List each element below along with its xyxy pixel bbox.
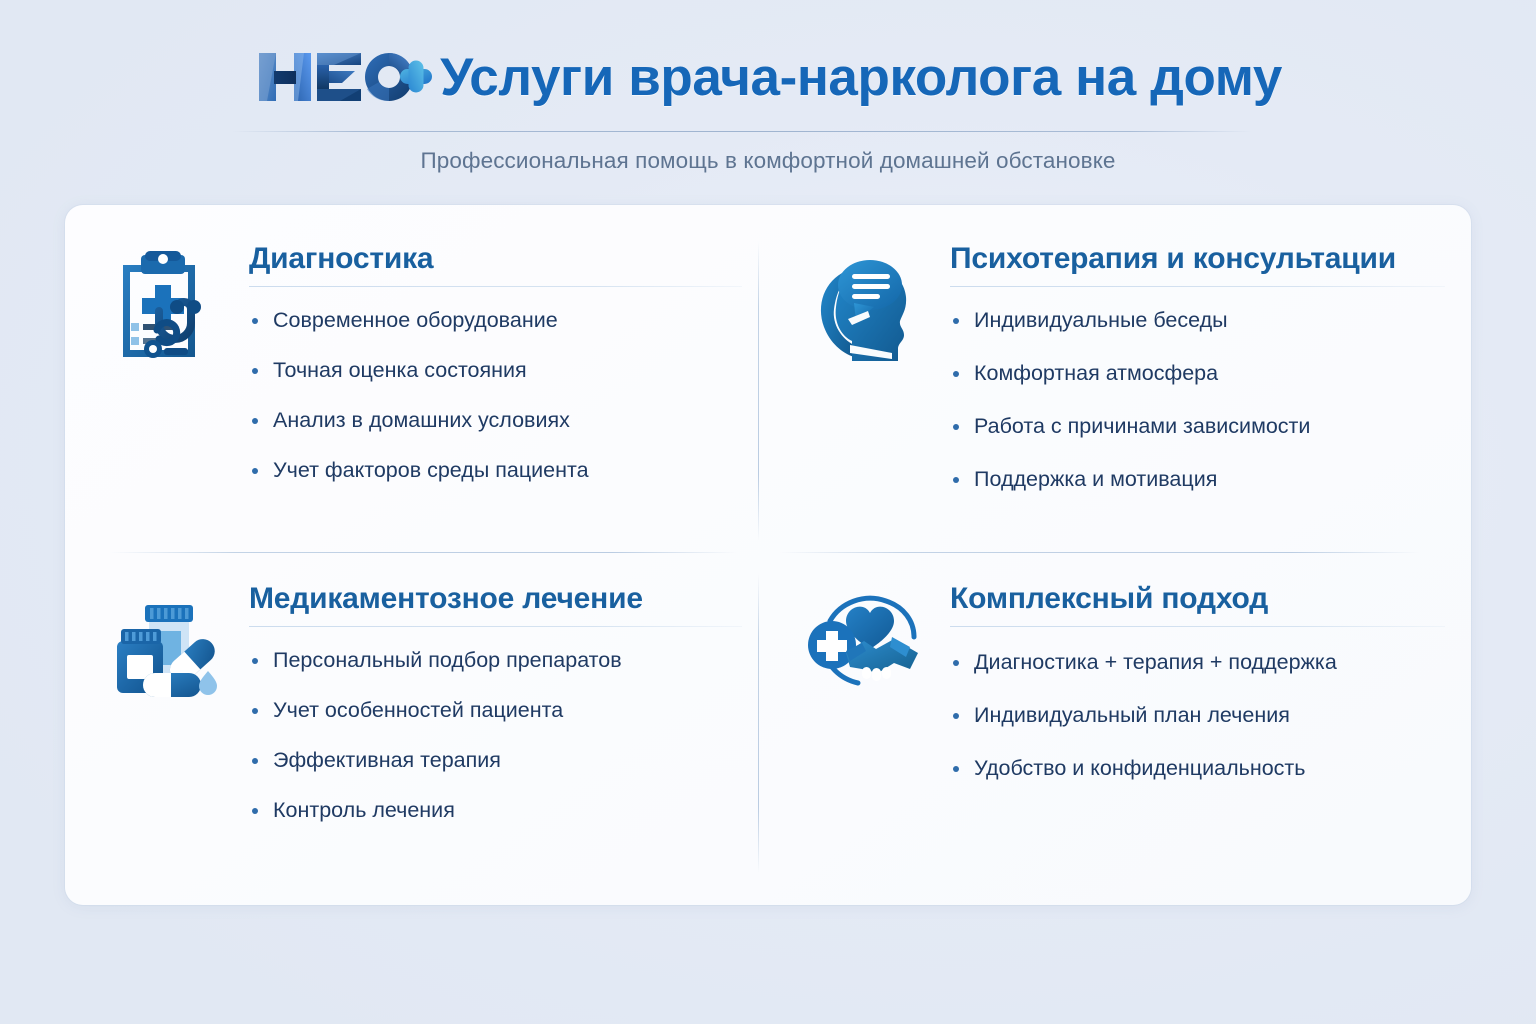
services-grid: Диагностика Современное оборудование Точ…: [65, 205, 1471, 905]
header-divider: [232, 131, 1252, 132]
pill-bottles-capsules-icon: [101, 583, 229, 895]
feature-list: Персональный подбор препаратов Учет особ…: [249, 647, 742, 824]
list-item: Учет особенностей пациента: [249, 697, 742, 723]
quadrant-content: Психотерапия и консультации Индивидуальн…: [930, 243, 1445, 545]
list-item: Работа с причинами зависимости: [950, 413, 1445, 439]
list-item: Комфортная атмосфера: [950, 360, 1445, 386]
neo-plus-logo: [254, 44, 432, 110]
quadrant-title: Комплексный подход: [950, 583, 1445, 615]
brand-and-title-row: Услуги врача-нарколога на дому: [0, 44, 1536, 110]
quadrant-content: Комплексный подход Диагностика + терапия…: [930, 583, 1445, 895]
list-item: Учет факторов среды пациента: [249, 457, 742, 483]
feature-list: Диагностика + терапия + поддержка Индиви…: [950, 649, 1445, 782]
service-quadrant-medication: Медикаментозное лечение Персональный под…: [65, 555, 768, 905]
service-quadrant-diagnostics: Диагностика Современное оборудование Точ…: [65, 205, 768, 555]
heart-handshake-cross-icon: [802, 583, 930, 895]
clipboard-stethoscope-icon: [101, 243, 229, 545]
head-speech-bubble-icon: [802, 243, 930, 545]
list-item: Анализ в домашних условиях: [249, 407, 742, 433]
list-item: Индивидуальные беседы: [950, 307, 1445, 333]
feature-list: Современное оборудование Точная оценка с…: [249, 307, 742, 484]
page-title: Услуги врача-нарколога на дому: [440, 51, 1282, 104]
feature-list: Индивидуальные беседы Комфортная атмосфе…: [950, 307, 1445, 493]
quadrant-title-underline: [249, 286, 742, 287]
quadrant-title-underline: [249, 626, 742, 627]
page-subtitle: Профессиональная помощь в комфортной дом…: [0, 148, 1536, 174]
quadrant-title-underline: [950, 626, 1445, 627]
list-item: Индивидуальный план лечения: [950, 702, 1445, 728]
services-card: Диагностика Современное оборудование Точ…: [65, 205, 1471, 905]
list-item: Точная оценка состояния: [249, 357, 742, 383]
quadrant-title: Диагностика: [249, 243, 742, 275]
list-item: Контроль лечения: [249, 797, 742, 823]
page-header: Услуги врача-нарколога на дому Профессио…: [0, 0, 1536, 205]
service-quadrant-comprehensive: Комплексный подход Диагностика + терапия…: [768, 555, 1471, 905]
list-item: Удобство и конфиденциальность: [950, 755, 1445, 781]
service-quadrant-psychotherapy: Психотерапия и консультации Индивидуальн…: [768, 205, 1471, 555]
quadrant-title: Психотерапия и консультации: [950, 243, 1445, 275]
quadrant-title: Медикаментозное лечение: [249, 583, 742, 615]
quadrant-content: Диагностика Современное оборудование Точ…: [229, 243, 742, 545]
quadrant-content: Медикаментозное лечение Персональный под…: [229, 583, 742, 895]
list-item: Современное оборудование: [249, 307, 742, 333]
list-item: Эффективная терапия: [249, 747, 742, 773]
quadrant-title-underline: [950, 286, 1445, 287]
list-item: Диагностика + терапия + поддержка: [950, 649, 1445, 675]
list-item: Поддержка и мотивация: [950, 466, 1445, 492]
list-item: Персональный подбор препаратов: [249, 647, 742, 673]
